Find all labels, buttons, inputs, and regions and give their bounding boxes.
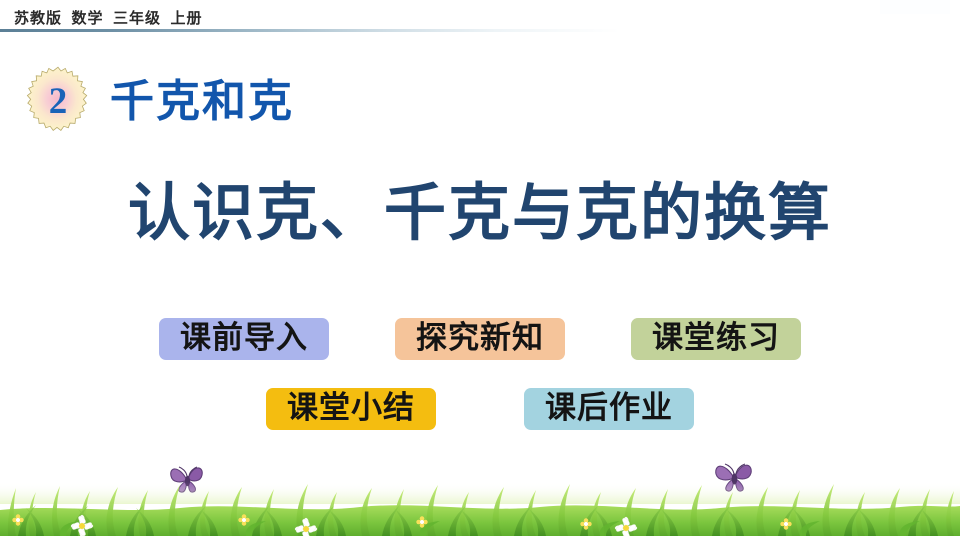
- page-title: 认识克、千克与克的换算: [0, 178, 960, 249]
- nav-button-practice-label: 课堂练习: [652, 322, 780, 353]
- nav-button-homework-label: 课后作业: [545, 392, 673, 423]
- nav-button-intro-label: 课前导入: [180, 322, 308, 353]
- nav-row-primary: 课前导入 探究新知 课堂练习: [0, 318, 960, 360]
- slide-canvas: 苏教版 数学 三年级 上册 2 千克和克: [0, 0, 960, 536]
- nav-button-summary[interactable]: 课堂小结: [266, 388, 436, 430]
- nav-row-secondary: 课堂小结 课后作业: [0, 388, 960, 430]
- chapter-title: 千克和克: [110, 80, 294, 124]
- header-corner-mark: [880, 0, 950, 14]
- chapter-number: 2: [20, 64, 96, 140]
- nav-button-summary-label: 课堂小结: [287, 392, 415, 423]
- grass-footer-decoration: [0, 474, 960, 536]
- header-bar: 苏教版 数学 三年级 上册: [0, 0, 960, 34]
- header-divider: [0, 29, 620, 32]
- grass-illustration: [0, 474, 960, 536]
- chapter-badge: 2: [20, 64, 96, 140]
- nav-button-homework[interactable]: 课后作业: [524, 388, 694, 430]
- nav-button-practice[interactable]: 课堂练习: [631, 318, 801, 360]
- breadcrumb: 苏教版 数学 三年级 上册: [14, 7, 203, 28]
- nav-button-explore-label: 探究新知: [416, 322, 544, 353]
- chapter-heading: 2 千克和克: [20, 62, 294, 142]
- nav-button-explore[interactable]: 探究新知: [395, 318, 565, 360]
- nav-button-intro[interactable]: 课前导入: [159, 318, 329, 360]
